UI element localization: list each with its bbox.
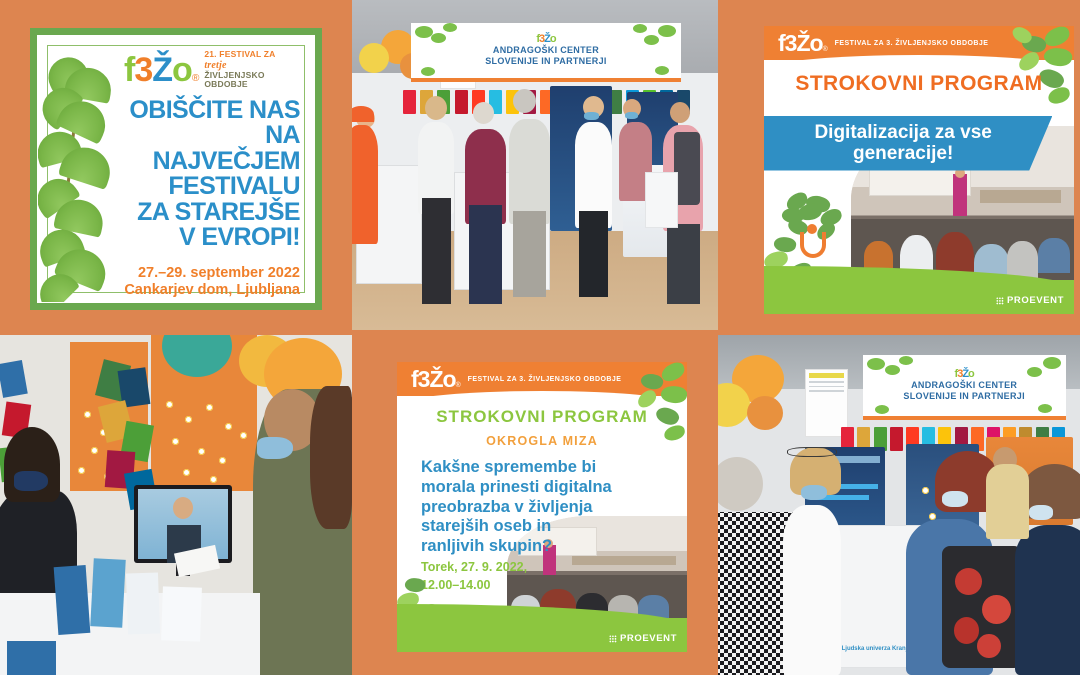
- ribbon-line-2: generacije!: [814, 143, 991, 164]
- acs-banner-text: ANDRAGOŠKI CENTER SLOVENIJE IN PARTNERJI: [903, 380, 1024, 403]
- festival-tagline-italic: tretje: [204, 60, 226, 71]
- headline-line-1: OBIŠČITE NAS: [124, 98, 300, 124]
- promo-headline: OBIŠČITE NAS NA NAJVEČJEM FESTIVALU ZA S…: [124, 98, 300, 251]
- f3zo-logo: f3Žo®: [411, 368, 460, 391]
- brochure: [54, 565, 90, 635]
- logo-letter-f: f: [124, 53, 134, 87]
- face-mask: [257, 437, 293, 459]
- proevent-label: PROEVENT: [620, 633, 677, 644]
- promo-date-venue: 27.–29. september 2022 Cankarjev dom, Lj…: [124, 265, 300, 300]
- hair: [310, 386, 352, 529]
- promo-visit-cell: f3Žo® 21. FESTIVAL ZA tretje ŽIVLJENJSKO…: [0, 0, 352, 328]
- card-tagline: FESTIVAL ZA 3. ŽIVLJENJSKO OBDOBJE: [835, 40, 989, 47]
- acs-banner-line2: SLOVENIJE IN PARTNERJI: [485, 56, 606, 67]
- brochure: [161, 586, 202, 642]
- card-subtitle: OKROGLA MIZA: [397, 434, 687, 448]
- promo-date: 27.–29. september 2022: [124, 265, 300, 282]
- headline-line-2: NA NAJVEČJEM: [124, 123, 300, 174]
- ribbon-line-1: Digitalizacija za vse: [814, 122, 991, 143]
- person-volunteer: [352, 125, 378, 244]
- photo-stand-top: f3Žo ANDRAGOŠKI CENTER SLOVENIJE IN PART…: [352, 0, 718, 330]
- card-tagline: FESTIVAL ZA 3. ŽIVLJENJSKO OBDOBJE: [468, 376, 622, 383]
- promo-visit-body: f3Žo® 21. FESTIVAL ZA tretje ŽIVLJENJSKO…: [124, 50, 300, 303]
- question-line-1: Kakšne spremembe bi: [421, 458, 665, 478]
- brochure: [90, 559, 125, 629]
- acs-banner-line2: SLOVENIJE IN PARTNERJI: [903, 391, 1024, 402]
- registered-mark-icon: ®: [823, 47, 827, 54]
- proevent-label: PROEVENT: [1007, 295, 1064, 306]
- ginkgo-leaf-decoration: [37, 54, 126, 303]
- card-ribbon: Digitalizacija za vse generacije!: [764, 116, 1052, 171]
- tote-bag: [645, 172, 678, 228]
- panel-table: [980, 190, 1060, 203]
- festival-tagline-line2: ŽIVLJENJSKO OBDOBJE: [204, 71, 300, 90]
- question-line-2: morala prinesti digitalna: [421, 478, 665, 498]
- person-white-blouse: [783, 505, 841, 675]
- floral-backpack: [942, 546, 1022, 668]
- brochure: [126, 572, 160, 634]
- headline-line-3: FESTIVALU: [124, 174, 300, 200]
- card-title: STROKOVNI PROGRAM: [397, 407, 687, 427]
- proevent-dots-icon: [609, 635, 617, 643]
- card-footer-bar: PROEVENT: [397, 618, 687, 652]
- photo-canvas: f3Žo ANDRAGOŠKI CENTER SLOVENIJE IN PART…: [718, 335, 1080, 675]
- logo-and-tagline-row: f3Žo® 21. FESTIVAL ZA tretje ŽIVLJENJSKO…: [124, 50, 300, 90]
- promo-visit-inner: f3Žo® 21. FESTIVAL ZA tretje ŽIVLJENJSKO…: [37, 35, 315, 303]
- logo-letter-z: Ž: [152, 53, 172, 87]
- promo-visit-card: f3Žo® 21. FESTIVAL ZA tretje ŽIVLJENJSKO…: [30, 28, 322, 310]
- card-title: STROKOVNI PROGRAM: [764, 72, 1074, 96]
- person-3: [509, 119, 549, 225]
- proevent-logo: PROEVENT: [609, 633, 677, 644]
- registered-mark-icon: ®: [456, 383, 460, 390]
- headline-line-5: V EVROPI!: [124, 225, 300, 251]
- card-roundtable: f3Žo® FESTIVAL ZA 3. ŽIVLJENJSKO OBDOBJE…: [397, 362, 687, 652]
- card-roundtable-cell: f3Žo® FESTIVAL ZA 3. ŽIVLJENJSKO OBDOBJE…: [352, 335, 718, 675]
- acs-banner-line1: ANDRAGOŠKI CENTER: [903, 380, 1024, 391]
- person-navy: [1015, 525, 1080, 675]
- image-collage: f3Žo® 21. FESTIVAL ZA tretje ŽIVLJENJSKO…: [0, 0, 1080, 675]
- photo-canvas: [0, 335, 352, 675]
- f3zo-logo: f3Žo®: [124, 53, 198, 87]
- card-digital: f3Žo® FESTIVAL ZA 3. ŽIVLJENJSKO OBDOBJE…: [764, 26, 1074, 314]
- proevent-logo: PROEVENT: [996, 295, 1064, 306]
- registered-mark-icon: ®: [192, 74, 199, 84]
- question-line-3: preobrazba v življenja: [421, 498, 665, 518]
- festival-tagline: 21. FESTIVAL ZA tretje ŽIVLJENJSKO OBDOB…: [204, 50, 300, 90]
- f3zo-logo: f3Žo: [955, 369, 974, 380]
- acs-banner: f3Žo ANDRAGOŠKI CENTER SLOVENIJE IN PART…: [863, 355, 1066, 420]
- acs-banner: f3Žo ANDRAGOŠKI CENTER SLOVENIJE IN PART…: [411, 23, 682, 82]
- balloon-yellow: [359, 43, 389, 73]
- photo-canvas: f3Žo ANDRAGOŠKI CENTER SLOVENIJE IN PART…: [352, 0, 718, 330]
- headline-line-4: ZA STAREJŠE: [124, 200, 300, 226]
- promo-venue: Cankarjev dom, Ljubljana: [124, 282, 300, 299]
- f3zo-logo: f3Žo: [536, 34, 555, 45]
- panel-table: [572, 556, 676, 566]
- logo-letter-o: o: [172, 53, 192, 87]
- festival-tagline-line1: 21. FESTIVAL ZA tretje: [204, 50, 300, 71]
- f3zo-logo: f3Žo®: [778, 32, 827, 55]
- card-footer-bar: PROEVENT: [764, 280, 1074, 314]
- face-mask: [14, 471, 48, 491]
- face-mask: [942, 491, 968, 507]
- face-mask: [801, 485, 827, 500]
- eyeglasses-icon: [787, 447, 838, 457]
- stand-brand-label: Ljudska univerza Kranj: [842, 646, 908, 654]
- photo-desk: [0, 335, 352, 675]
- backpack: [674, 132, 700, 205]
- proevent-dots-icon: [996, 297, 1004, 305]
- acs-banner-line1: ANDRAGOŠKI CENTER: [485, 45, 606, 56]
- card-digital-cell: f3Žo® FESTIVAL ZA 3. ŽIVLJENJSKO OBDOBJE…: [718, 0, 1080, 330]
- face-mask: [584, 112, 599, 120]
- logo-letter-3: 3: [134, 53, 152, 87]
- person-beige: [986, 464, 1029, 539]
- balloon-orange-2: [747, 396, 783, 430]
- brochure: [7, 641, 56, 675]
- speaker: [953, 174, 966, 216]
- face-mask: [1029, 505, 1053, 520]
- orange-cap: [352, 106, 374, 123]
- photo-crowd: f3Žo ANDRAGOŠKI CENTER SLOVENIJE IN PART…: [718, 335, 1080, 675]
- acs-banner-text: ANDRAGOŠKI CENTER SLOVENIJE IN PARTNERJI: [485, 45, 606, 68]
